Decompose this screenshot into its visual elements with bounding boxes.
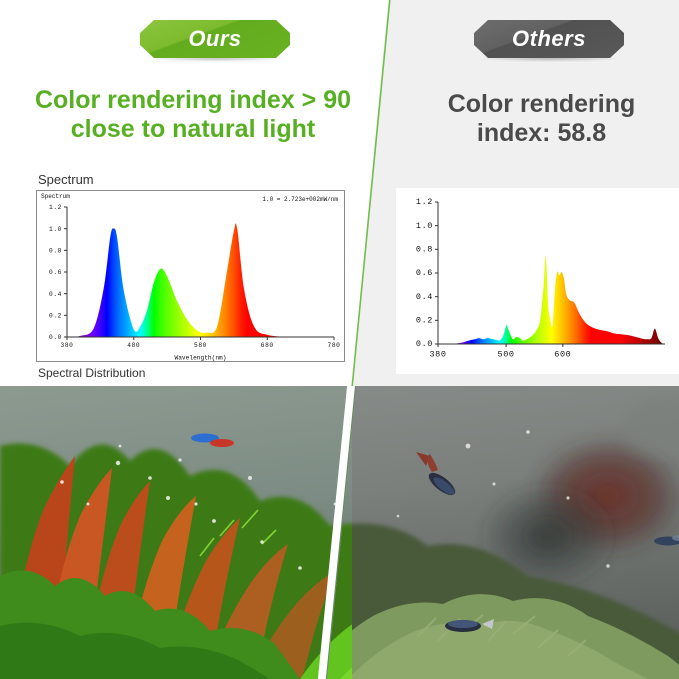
ours-badge: Ours [140, 20, 290, 58]
others-badge-label: Others [512, 26, 586, 52]
photo-comparison-area [0, 386, 679, 679]
svg-text:500: 500 [498, 350, 515, 360]
svg-text:380: 380 [61, 342, 74, 349]
others-spectrum-plot: 0.00.20.40.60.81.01.2380500600 [396, 188, 679, 374]
svg-text:0.4: 0.4 [416, 292, 433, 302]
ours-spectrum-chart: Spectrum 1.0 = 2.723e+002mW/nm 0.00.20.4… [36, 190, 345, 362]
svg-text:0.2: 0.2 [416, 316, 433, 326]
svg-text:480: 480 [127, 342, 140, 349]
svg-text:1.0: 1.0 [416, 221, 433, 231]
top-comparison-area: Ours Others Color rendering index > 90 c… [0, 0, 679, 386]
svg-text:680: 680 [261, 342, 274, 349]
others-spectrum-chart: 0.00.20.40.60.81.01.2380500600 [396, 188, 679, 374]
ours-badge-label: Ours [188, 26, 241, 52]
svg-text:0.6: 0.6 [416, 268, 433, 278]
svg-text:380: 380 [429, 350, 446, 360]
svg-text:0.0: 0.0 [416, 339, 433, 349]
svg-text:0.0: 0.0 [49, 334, 62, 341]
svg-text:Wavelength(nm): Wavelength(nm) [175, 355, 227, 362]
svg-text:0.6: 0.6 [49, 269, 62, 276]
svg-text:600: 600 [554, 350, 571, 360]
svg-text:0.2: 0.2 [49, 313, 62, 320]
others-badge: Others [474, 20, 624, 58]
svg-text:1.0: 1.0 [49, 226, 62, 233]
chart-scale-note: 1.0 = 2.723e+002mW/nm [262, 196, 338, 203]
svg-text:0.4: 0.4 [49, 291, 62, 298]
right-heading-line2: index: 58.8 [414, 119, 669, 148]
chart-corner-label: Spectrum [41, 193, 70, 200]
svg-text:580: 580 [194, 342, 207, 349]
right-heading: Color rendering index: 58.8 [414, 90, 669, 148]
comparison-infographic: Ours Others Color rendering index > 90 c… [0, 0, 679, 679]
spectral-distribution-caption: Spectral Distribution [38, 366, 145, 380]
svg-text:0.8: 0.8 [49, 248, 62, 255]
svg-text:780: 780 [328, 342, 341, 349]
svg-text:1.2: 1.2 [416, 197, 433, 207]
right-heading-line1: Color rendering [414, 90, 669, 119]
spectrum-title: Spectrum [38, 172, 94, 187]
svg-text:0.8: 0.8 [416, 245, 433, 255]
svg-text:1.2: 1.2 [49, 204, 62, 211]
left-heading-line1: Color rendering index > 90 [18, 86, 368, 115]
left-heading-line2: close to natural light [18, 115, 368, 144]
left-heading: Color rendering index > 90 close to natu… [18, 86, 368, 144]
ours-spectrum-plot: 0.00.20.40.60.81.01.2380480580680780Wave… [37, 191, 344, 361]
